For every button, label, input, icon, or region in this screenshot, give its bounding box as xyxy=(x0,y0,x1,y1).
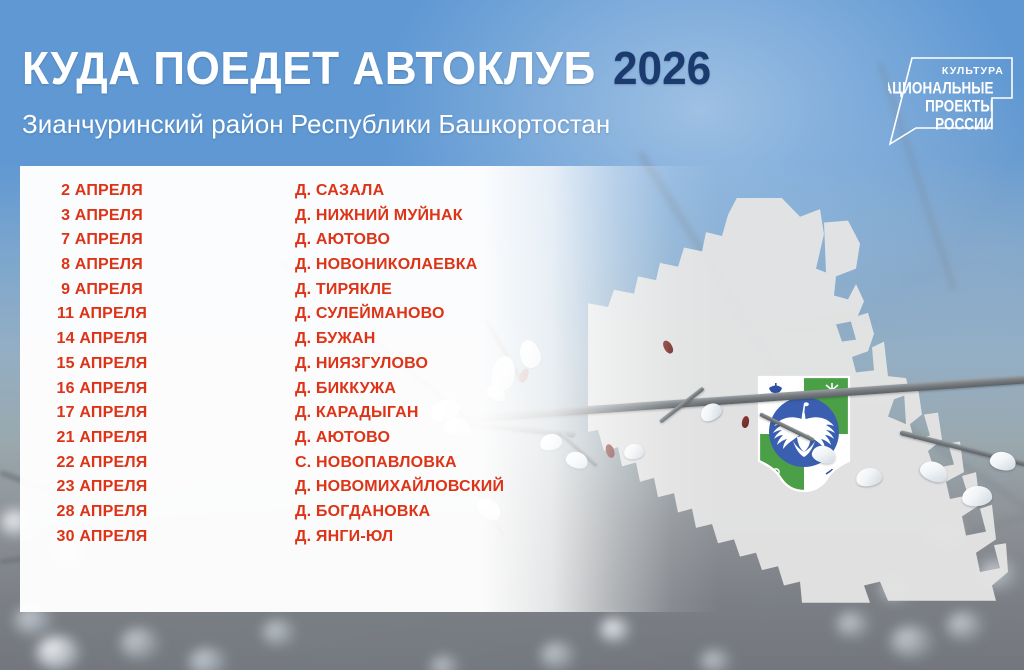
schedule-row: 7 АПРЕЛЯД. АЮТОВО xyxy=(20,231,720,256)
schedule-row: 23 АПРЕЛЯД. НОВОМИХАЙЛОВСКИЙ xyxy=(20,478,720,503)
schedule-date-text: 11 АПРЕЛЯ xyxy=(42,305,162,323)
schedule-date-text: 3 АПРЕЛЯ xyxy=(42,207,162,225)
schedule-date: 8 АПРЕЛЯ xyxy=(20,256,295,274)
schedule-place: Д. САЗАЛА xyxy=(295,182,384,200)
page-title-year: 2026 xyxy=(613,42,711,94)
schedule-row: 30 АПРЕЛЯД. ЯНГИ-ЮЛ xyxy=(20,528,720,553)
schedule-date: 11 АПРЕЛЯ xyxy=(20,305,295,323)
schedule-date-text: 17 АПРЕЛЯ xyxy=(42,404,162,422)
schedule-place: Д. АЮТОВО xyxy=(295,429,390,447)
schedule-date: 3 АПРЕЛЯ xyxy=(20,207,295,225)
schedule-date: 14 АПРЕЛЯ xyxy=(20,330,295,348)
schedule-row: 2 АПРЕЛЯД. САЗАЛА xyxy=(20,182,720,207)
schedule-place: Д. НИЖНИЙ МУЙНАК xyxy=(295,207,463,225)
schedule-date-text: 7 АПРЕЛЯ xyxy=(42,231,162,249)
schedule-date-text: 22 АПРЕЛЯ xyxy=(42,454,162,472)
schedule-row: 17 АПРЕЛЯД. КАРАДЫГАН xyxy=(20,404,720,429)
schedule-date-text: 9 АПРЕЛЯ xyxy=(42,281,162,299)
schedule-date-text: 14 АПРЕЛЯ xyxy=(42,330,162,348)
logo-line-3: РОССИИ xyxy=(935,115,994,134)
schedule-place: Д. ТИРЯКЛЕ xyxy=(295,281,392,299)
schedule-place: С. НОВОПАВЛОВКА xyxy=(295,454,457,472)
schedule-place: Д. СУЛЕЙМАНОВО xyxy=(295,305,445,323)
schedule-row: 14 АПРЕЛЯД. БУЖАН xyxy=(20,330,720,355)
schedule-date-text: 21 АПРЕЛЯ xyxy=(42,429,162,447)
schedule-row: 21 АПРЕЛЯД. АЮТОВО xyxy=(20,429,720,454)
schedule-date: 22 АПРЕЛЯ xyxy=(20,454,295,472)
schedule-date: 28 АПРЕЛЯ xyxy=(20,503,295,521)
schedule-date: 7 АПРЕЛЯ xyxy=(20,231,295,249)
schedule-date-text: 2 АПРЕЛЯ xyxy=(42,182,162,200)
schedule-list: 2 АПРЕЛЯД. САЗАЛА3 АПРЕЛЯД. НИЖНИЙ МУЙНА… xyxy=(20,182,720,552)
page-subtitle: Зианчуринский район Республики Башкортос… xyxy=(22,109,610,140)
poster: КУДА ПОЕДЕТ АВТОКЛУБ2026 Зианчуринский р… xyxy=(0,0,1024,670)
logo-line-2: ПРОЕКТЫ xyxy=(925,97,993,116)
schedule-date: 17 АПРЕЛЯ xyxy=(20,404,295,422)
logo-program-label: КУЛЬТУРА xyxy=(942,65,1004,77)
schedule-row: 16 АПРЕЛЯД. БИККУЖА xyxy=(20,380,720,405)
schedule-place: Д. НОВОНИКОЛАЕВКА xyxy=(295,256,478,274)
schedule-place: Д. БИККУЖА xyxy=(295,380,396,398)
schedule-date-text: 16 АПРЕЛЯ xyxy=(42,380,162,398)
schedule-date: 30 АПРЕЛЯ xyxy=(20,528,295,546)
schedule-row: 9 АПРЕЛЯД. ТИРЯКЛЕ xyxy=(20,281,720,306)
schedule-date-text: 23 АПРЕЛЯ xyxy=(42,478,162,496)
schedule-date: 2 АПРЕЛЯ xyxy=(20,182,295,200)
schedule-date: 9 АПРЕЛЯ xyxy=(20,281,295,299)
schedule-date: 15 АПРЕЛЯ xyxy=(20,355,295,373)
page-title-text: КУДА ПОЕДЕТ АВТОКЛУБ xyxy=(22,42,596,94)
logo-line-1: НАЦИОНАЛЬНЫЕ xyxy=(888,79,994,98)
schedule-date: 23 АПРЕЛЯ xyxy=(20,478,295,496)
schedule-place: Д. КАРАДЫГАН xyxy=(295,404,419,422)
schedule-place: Д. БУЖАН xyxy=(295,330,376,348)
schedule-row: 3 АПРЕЛЯД. НИЖНИЙ МУЙНАК xyxy=(20,207,720,232)
national-projects-logo: КУЛЬТУРА НАЦИОНАЛЬНЫЕ ПРОЕКТЫ РОССИИ xyxy=(888,36,1016,148)
schedule-row: 8 АПРЕЛЯД. НОВОНИКОЛАЕВКА xyxy=(20,256,720,281)
schedule-place: Д. НИЯЗГУЛОВО xyxy=(295,355,428,373)
schedule-date: 16 АПРЕЛЯ xyxy=(20,380,295,398)
schedule-date-text: 8 АПРЕЛЯ xyxy=(42,256,162,274)
schedule-place: Д. БОГДАНОВКА xyxy=(295,503,430,521)
schedule-row: 28 АПРЕЛЯД. БОГДАНОВКА xyxy=(20,503,720,528)
schedule-row: 15 АПРЕЛЯД. НИЯЗГУЛОВО xyxy=(20,355,720,380)
page-title: КУДА ПОЕДЕТ АВТОКЛУБ2026 xyxy=(22,41,711,95)
schedule-date-text: 28 АПРЕЛЯ xyxy=(42,503,162,521)
schedule-date-text: 15 АПРЕЛЯ xyxy=(42,355,162,373)
schedule-place: Д. ЯНГИ-ЮЛ xyxy=(295,528,393,546)
schedule-row: 11 АПРЕЛЯД. СУЛЕЙМАНОВО xyxy=(20,305,720,330)
schedule-date-text: 30 АПРЕЛЯ xyxy=(42,528,162,546)
schedule-place: Д. АЮТОВО xyxy=(295,231,390,249)
schedule-date: 21 АПРЕЛЯ xyxy=(20,429,295,447)
schedule-place: Д. НОВОМИХАЙЛОВСКИЙ xyxy=(295,478,504,496)
schedule-row: 22 АПРЕЛЯС. НОВОПАВЛОВКА xyxy=(20,454,720,479)
